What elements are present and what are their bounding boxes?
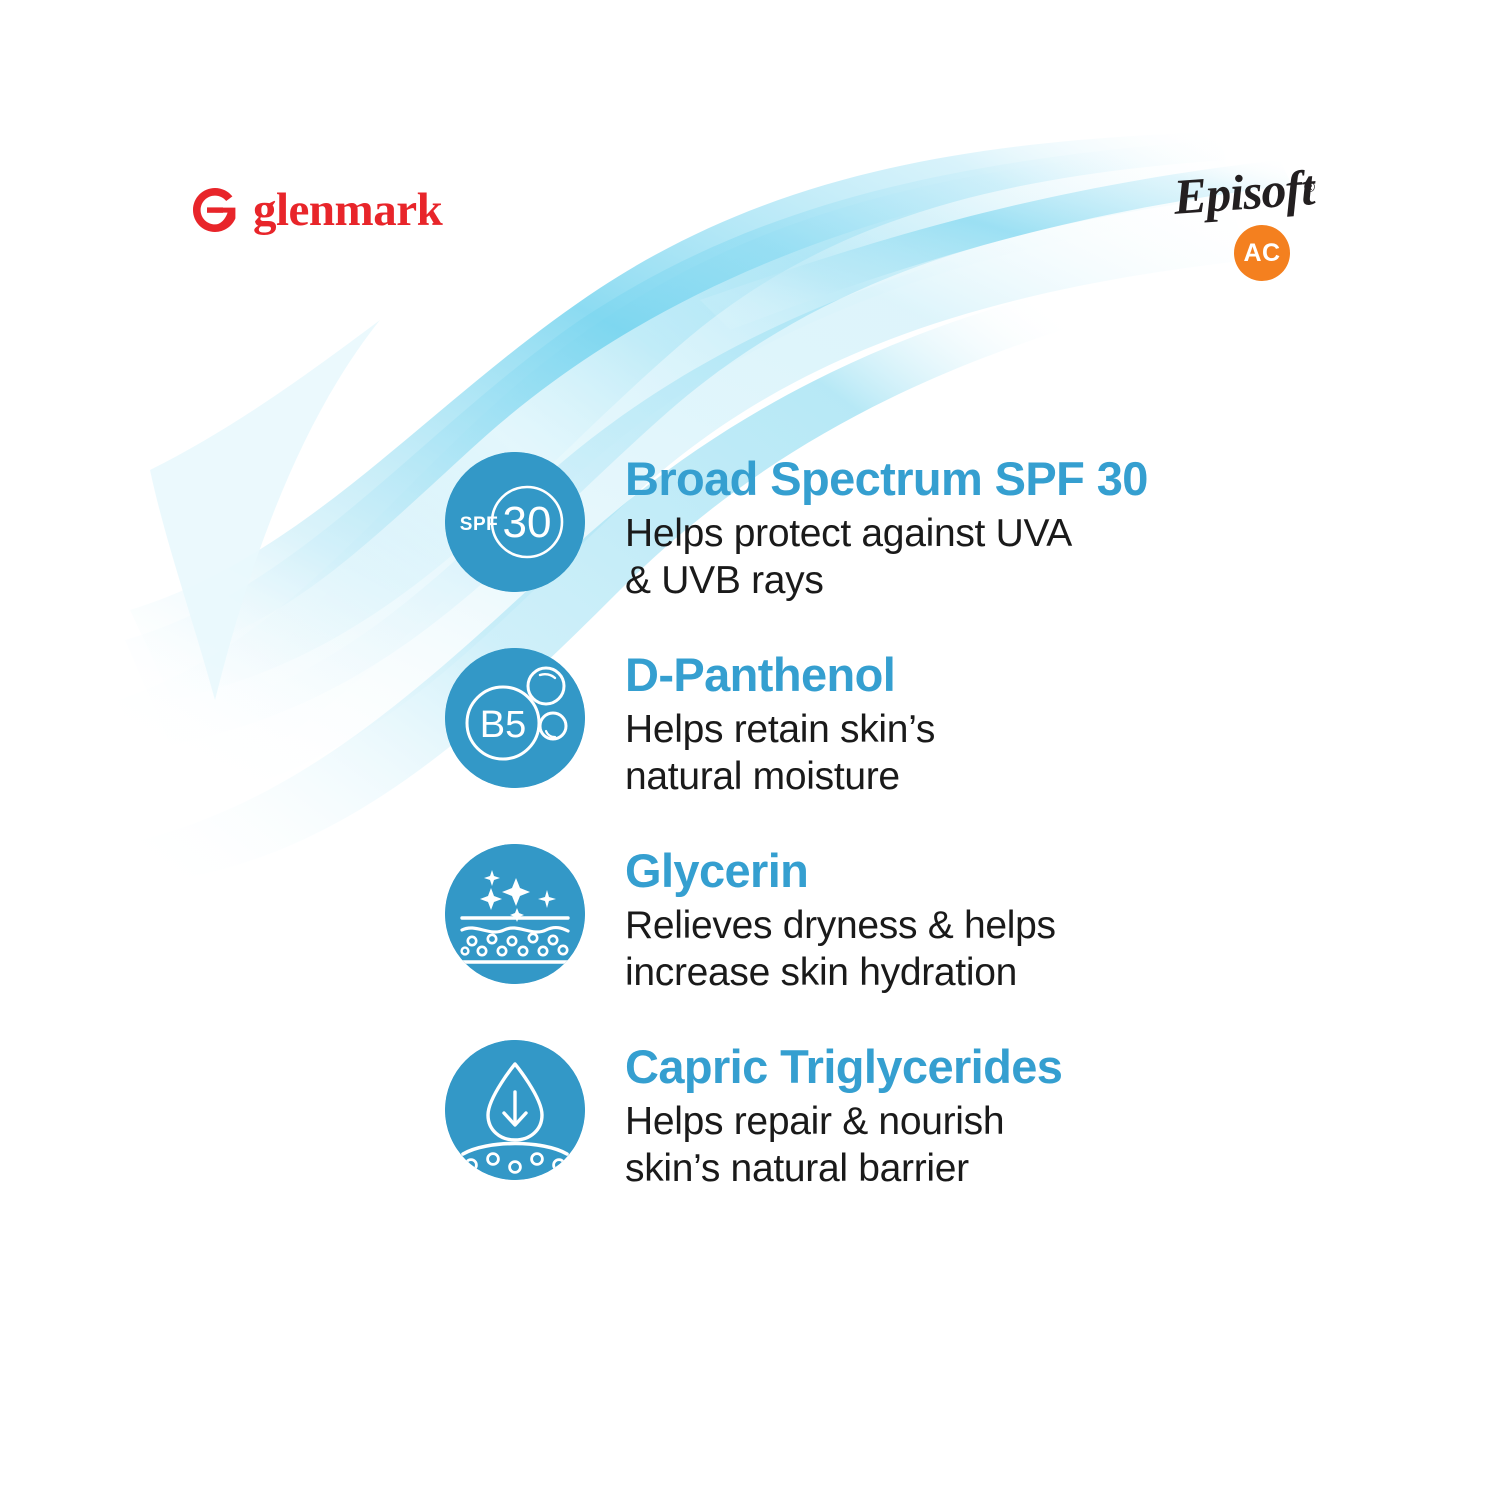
feature-description: Relieves dryness & helps increase skin h…: [625, 902, 1445, 997]
feature-title: D-Panthenol: [625, 650, 1445, 700]
ac-variant-label: AC: [1243, 241, 1280, 266]
droplet-absorption-barrier-icon: [445, 1040, 585, 1180]
feature-description: Helps repair & nourish skin’s natural ba…: [625, 1098, 1445, 1193]
feature-title: Broad Spectrum SPF 30: [625, 454, 1445, 504]
spf-value-label: 30: [503, 498, 552, 547]
feature-text-block: Glycerin Relieves dryness & helps increa…: [585, 844, 1445, 997]
feature-title: Glycerin: [625, 846, 1445, 896]
glenmark-brand-logo: glenmark: [191, 186, 442, 234]
feature-text-block: Capric Triglycerides Helps repair & nour…: [585, 1040, 1445, 1193]
feature-description: Helps protect against UVA & UVB rays: [625, 510, 1445, 605]
feature-item-d-panthenol: B5 D-Panthenol Helps retain skin’s natur…: [445, 648, 1445, 844]
feature-item-capric-triglycerides: Capric Triglycerides Helps repair & nour…: [445, 1040, 1445, 1236]
feature-list: SPF 30 Broad Spectrum SPF 30 Helps prote…: [445, 452, 1445, 1236]
b5-value-label: B5: [480, 704, 526, 746]
feature-text-block: D-Panthenol Helps retain skin’s natural …: [585, 648, 1445, 801]
hydrated-skin-layers-icon: [445, 844, 585, 984]
ac-variant-badge: AC: [1234, 225, 1290, 281]
feature-text-block: Broad Spectrum SPF 30 Helps protect agai…: [585, 452, 1445, 605]
glenmark-g-icon: [191, 186, 239, 234]
feature-description: Helps retain skin’s natural moisture: [625, 706, 1445, 801]
feature-title: Capric Triglycerides: [625, 1042, 1445, 1092]
vitamin-b5-bubbles-icon: B5: [445, 648, 585, 788]
feature-item-spf-30: SPF 30 Broad Spectrum SPF 30 Helps prote…: [445, 452, 1445, 648]
episoft-ac-product-logo: Episoft ® AC: [1172, 172, 1322, 287]
glenmark-wordmark: glenmark: [253, 187, 442, 234]
episoft-wordmark: Episoft: [1172, 162, 1315, 222]
spf-30-icon: SPF 30: [445, 452, 585, 592]
feature-item-glycerin: Glycerin Relieves dryness & helps increa…: [445, 844, 1445, 1040]
spf-prefix-label: SPF: [460, 514, 498, 535]
registered-trademark-icon: ®: [1304, 180, 1315, 195]
